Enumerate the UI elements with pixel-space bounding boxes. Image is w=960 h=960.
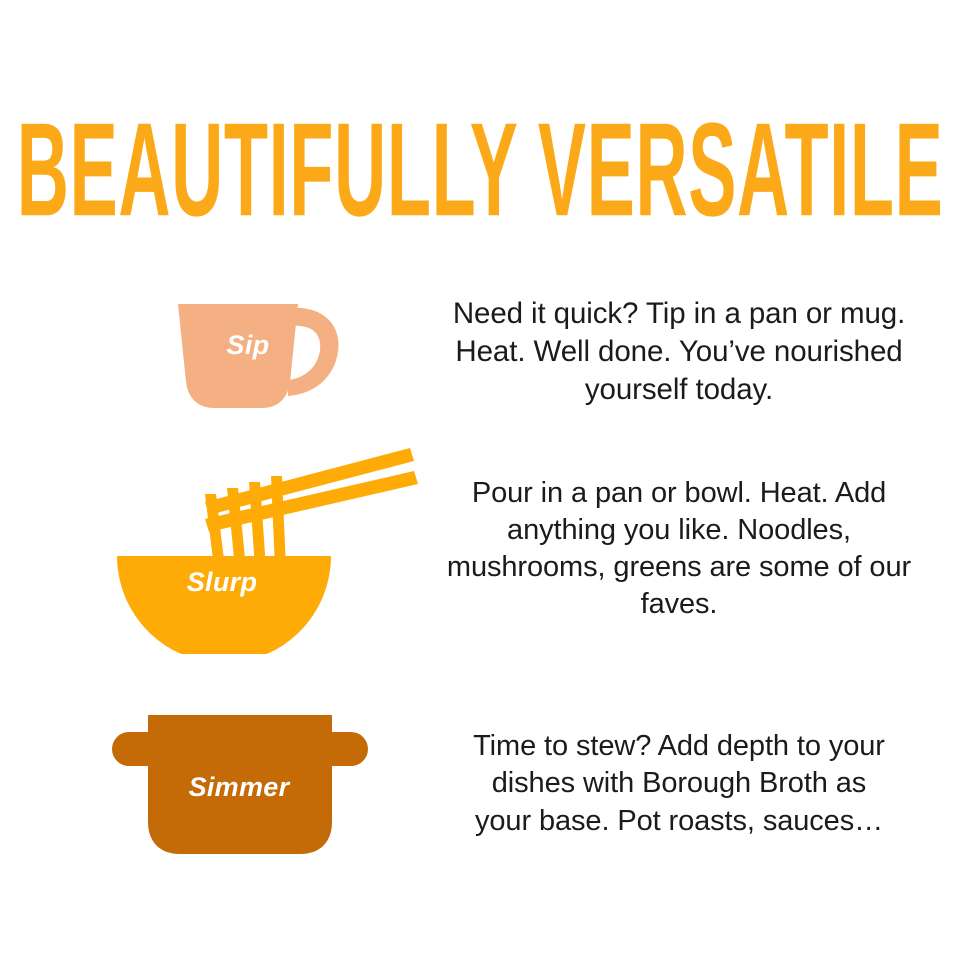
feature-row-simmer: Simmer Time to stew? Add depth to your d… bbox=[0, 700, 960, 868]
icon-cell-sip: Sip bbox=[0, 276, 420, 428]
copy-cell-slurp: Pour in a pan or bowl. Heat. Add anythin… bbox=[420, 444, 960, 654]
icon-label-simmer: Simmer bbox=[110, 706, 368, 868]
icon-label-sip: Sip bbox=[172, 286, 324, 404]
page-title: BEAUTIFULLY VERSATILE bbox=[17, 104, 944, 237]
headline-container: BEAUTIFULLY VERSATILE bbox=[0, 104, 960, 222]
icon-cell-slurp: Slurp bbox=[0, 444, 420, 654]
feature-row-sip: Sip Need it quick? Tip in a pan or mug. … bbox=[0, 276, 960, 428]
poster-canvas: BEAUTIFULLY VERSATILE Sip Need it quick?… bbox=[0, 0, 960, 960]
copy-text-sip: Need it quick? Tip in a pan or mug. Heat… bbox=[444, 295, 914, 408]
copy-cell-simmer: Time to stew? Add depth to your dishes w… bbox=[420, 700, 960, 868]
copy-text-simmer: Time to stew? Add depth to your dishes w… bbox=[469, 728, 889, 839]
icon-label-slurp: Slurp bbox=[110, 444, 334, 721]
feature-row-slurp: Slurp Pour in a pan or bowl. Heat. Add a… bbox=[0, 444, 960, 654]
copy-cell-sip: Need it quick? Tip in a pan or mug. Heat… bbox=[420, 276, 960, 428]
icon-cell-simmer: Simmer bbox=[0, 700, 420, 868]
copy-text-slurp: Pour in a pan or bowl. Heat. Add anythin… bbox=[439, 475, 919, 623]
